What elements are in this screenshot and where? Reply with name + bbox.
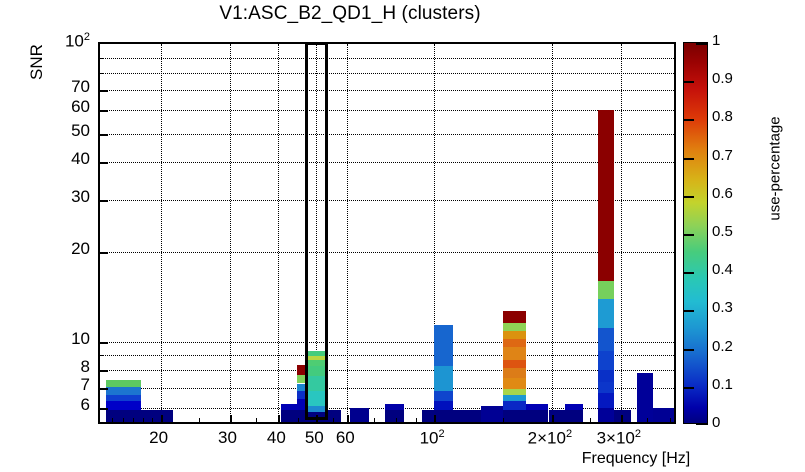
y-axis-tick bbox=[100, 110, 108, 112]
colorbar-tick-label: 0.5 bbox=[712, 223, 752, 240]
colorbar-title: use-percentage bbox=[767, 94, 784, 244]
x-axis-tick bbox=[621, 415, 623, 422]
colorbar-tick bbox=[683, 119, 694, 121]
y-axis-minor-tick bbox=[100, 355, 104, 356]
y-axis-tick bbox=[100, 90, 108, 92]
y-tick-label: 30 bbox=[30, 187, 90, 207]
colorbar-tick-label: 0.6 bbox=[712, 185, 752, 202]
y-axis-tick bbox=[100, 370, 108, 372]
y-axis-minor-tick bbox=[100, 73, 104, 74]
y-tick-label: 6 bbox=[30, 395, 90, 415]
x-axis-minor-tick bbox=[143, 418, 144, 422]
colorbar-tick bbox=[683, 234, 694, 236]
y-axis-tick bbox=[100, 252, 108, 254]
y-tick-label: 10 bbox=[65, 32, 84, 51]
y-tick-label: 70 bbox=[30, 77, 90, 97]
y-tick-label: 20 bbox=[30, 239, 90, 259]
y-tick-label: 40 bbox=[30, 149, 90, 169]
plot-frame bbox=[98, 42, 676, 424]
colorbar-tick-label: 0.3 bbox=[712, 299, 752, 316]
x-axis-minor-tick bbox=[133, 418, 134, 422]
colorbar-gradient bbox=[684, 43, 707, 423]
x-tick-label: 3×102 bbox=[579, 428, 659, 449]
y-tick-label: 7 bbox=[30, 375, 90, 395]
colorbar-tick bbox=[696, 423, 708, 425]
colorbar-tick bbox=[683, 158, 694, 160]
y-axis-tick bbox=[100, 134, 108, 136]
colorbar-tick-label: 1 bbox=[712, 32, 752, 49]
x-axis-minor-tick bbox=[199, 418, 200, 422]
x-axis-minor-tick bbox=[670, 418, 671, 422]
y-axis-tick bbox=[100, 388, 108, 390]
y-tick-exponent: 2 bbox=[84, 31, 90, 43]
x-axis-minor-tick bbox=[416, 418, 417, 422]
x-axis-tick bbox=[552, 415, 554, 422]
x-axis-minor-tick bbox=[333, 418, 334, 422]
y-axis-tick bbox=[100, 408, 108, 410]
x-axis-title: Frequency [Hz] bbox=[556, 450, 716, 468]
x-axis-minor-tick bbox=[590, 418, 591, 422]
x-axis-tick bbox=[316, 415, 318, 422]
x-tick-label: 102 bbox=[392, 428, 472, 449]
x-axis-tick bbox=[347, 415, 349, 422]
x-tick-exponent: 2 bbox=[635, 428, 641, 440]
colorbar-tick bbox=[696, 43, 708, 45]
y-tick-label: 10 bbox=[30, 329, 90, 349]
x-axis-tick bbox=[161, 415, 163, 422]
colorbar-tick bbox=[683, 310, 694, 312]
x-tick-label: 20 bbox=[149, 428, 168, 447]
colorbar-tick bbox=[683, 349, 694, 351]
x-axis-tick bbox=[278, 415, 280, 422]
x-tick-exponent: 2 bbox=[438, 428, 444, 440]
y-axis-tick bbox=[100, 200, 108, 202]
y-tick-label: 50 bbox=[30, 121, 90, 141]
x-tick-label: 10 bbox=[420, 429, 439, 448]
colorbar-tick bbox=[683, 196, 694, 198]
colorbar[interactable] bbox=[683, 42, 708, 424]
y-tick-label: 60 bbox=[30, 97, 90, 117]
x-axis-minor-tick bbox=[503, 418, 504, 422]
x-axis-minor-tick bbox=[112, 418, 113, 422]
colorbar-tick-label: 0.4 bbox=[712, 261, 752, 278]
x-tick-label: 30 bbox=[218, 428, 237, 447]
x-axis-tick bbox=[434, 415, 436, 422]
x-tick-label: 3×10 bbox=[597, 429, 635, 448]
x-axis-minor-tick bbox=[152, 418, 153, 422]
y-axis-tick bbox=[100, 342, 108, 344]
x-axis-minor-tick bbox=[396, 418, 397, 422]
y-tick-label: 102 bbox=[30, 31, 90, 52]
colorbar-tick bbox=[683, 387, 694, 389]
colorbar-tick-label: 0 bbox=[712, 414, 752, 431]
colorbar-tick bbox=[683, 81, 694, 83]
x-tick-label: 60 bbox=[305, 428, 385, 448]
page-title: V1:ASC_B2_QD1_H (clusters) bbox=[0, 3, 700, 25]
colorbar-tick-label: 0.9 bbox=[712, 70, 752, 87]
x-axis-minor-tick bbox=[647, 418, 648, 422]
colorbar-tick-label: 0.1 bbox=[712, 376, 752, 393]
x-axis-minor-tick bbox=[298, 418, 299, 422]
x-tick-label: 60 bbox=[336, 428, 355, 447]
y-axis-minor-tick bbox=[100, 58, 104, 59]
colorbar-tick-label: 0.2 bbox=[712, 338, 752, 355]
plot-canvas: V1:ASC_B2_QD1_H (clusters) SNR 102706050… bbox=[0, 0, 805, 472]
y-axis-tick bbox=[100, 162, 108, 164]
x-axis-minor-tick bbox=[374, 418, 375, 422]
colorbar-tick bbox=[683, 272, 694, 274]
colorbar-tick-label: 0.7 bbox=[712, 147, 752, 164]
x-tick-exponent: 2 bbox=[566, 428, 572, 440]
x-tick-label: 2×10 bbox=[528, 429, 566, 448]
x-axis-minor-tick bbox=[256, 418, 257, 422]
tick-layer bbox=[100, 44, 674, 422]
x-axis-tick bbox=[230, 415, 232, 422]
x-axis-minor-tick bbox=[123, 418, 124, 422]
colorbar-tick-label: 0.8 bbox=[712, 108, 752, 125]
